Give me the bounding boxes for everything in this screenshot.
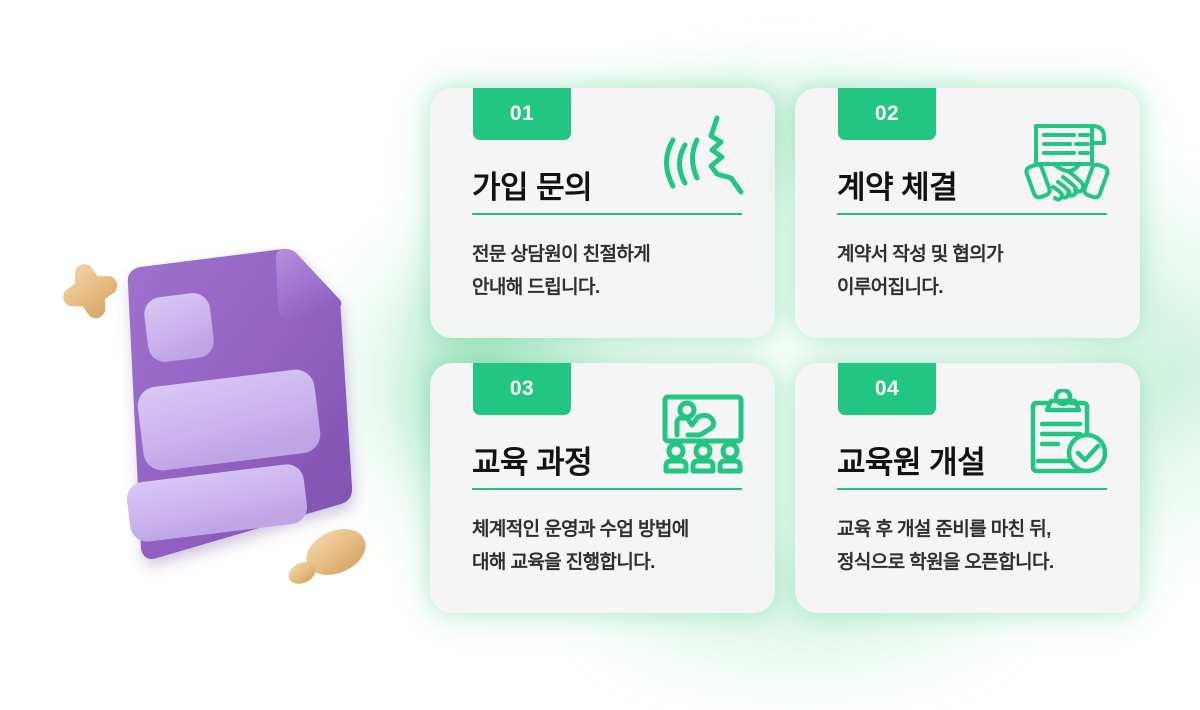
step-divider-03 — [472, 488, 742, 490]
step-description-03: 체계적인 운영과 수업 방법에 대해 교육을 진행합니다. — [472, 513, 762, 579]
process-steps-infographic: 01 가입 문의 전문 상담원이 친절하게 안내해 드립니다. 02 계약 체결… — [0, 0, 1200, 709]
step-card-04[interactable]: 04 교육원 개설 교육 후 개설 준비를 마친 뒤, 정식으로 학원을 오픈합… — [795, 363, 1140, 613]
steps-card-grid: 01 가입 문의 전문 상담원이 친절하게 안내해 드립니다. 02 계약 체결… — [430, 88, 1140, 613]
step-divider-01 — [472, 213, 742, 215]
step-number-badge-03: 03 — [473, 363, 571, 415]
step-number-badge-02: 02 — [838, 88, 936, 140]
tan-plus-shape — [55, 256, 126, 327]
purple-3d-document-illustration — [40, 240, 390, 600]
clipboard-check-icon — [1022, 389, 1114, 481]
step-card-02[interactable]: 02 계약 체결 계약서 작성 및 협의가 이루어집니다. — [795, 88, 1140, 338]
step-divider-04 — [837, 488, 1107, 490]
step-title-02: 계약 체결 — [837, 162, 957, 207]
step-description-01: 전문 상담원이 친절하게 안내해 드립니다. — [472, 238, 762, 304]
step-description-04: 교육 후 개설 준비를 마친 뒤, 정식으로 학원을 오픈합니다. — [837, 513, 1127, 579]
document-block-small — [142, 291, 215, 364]
step-title-03: 교육 과정 — [472, 437, 592, 482]
step-number-badge-04: 04 — [838, 363, 936, 415]
step-divider-02 — [837, 213, 1107, 215]
document-illustration-svg — [40, 240, 390, 600]
speaking-person-icon — [657, 114, 749, 206]
step-description-02: 계약서 작성 및 협의가 이루어집니다. — [837, 238, 1127, 304]
step-card-03[interactable]: 03 교육 과정 체계적인 운영과 수업 방법에 대해 교육을 진행합니다. — [430, 363, 775, 613]
step-number-badge-01: 01 — [473, 88, 571, 140]
step-card-01[interactable]: 01 가입 문의 전문 상담원이 친절하게 안내해 드립니다. — [430, 88, 775, 338]
classroom-teaching-icon — [657, 389, 749, 481]
step-title-01: 가입 문의 — [472, 162, 592, 207]
step-title-04: 교육원 개설 — [837, 437, 985, 482]
contract-handshake-icon — [1022, 114, 1114, 206]
